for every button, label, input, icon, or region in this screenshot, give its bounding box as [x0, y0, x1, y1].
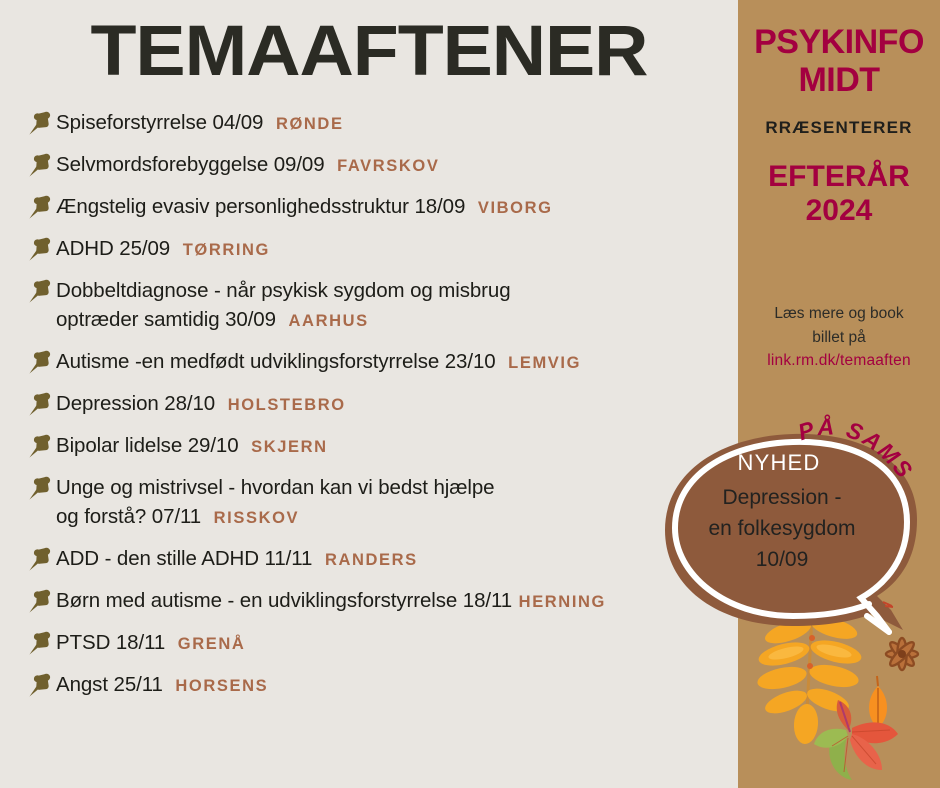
pa-samso-arc-label: PÅ SAMSØ	[795, 424, 940, 534]
event-city: TØRRING	[183, 241, 270, 259]
pushpin-icon	[26, 194, 56, 220]
event-title: Ængstelig evasiv personlighedsstruktur 1…	[56, 192, 553, 223]
event-list: Spiseforstyrrelse 04/09 RØNDESelvmordsfo…	[26, 108, 742, 712]
event-row[interactable]: Ængstelig evasiv personlighedsstruktur 1…	[26, 192, 742, 223]
event-text: Autisme -en medfødt udviklingsforstyrrel…	[56, 347, 581, 378]
event-text: ADHD 25/09 TØRRING	[56, 234, 270, 265]
event-text: Børn med autisme - en udviklingsforstyrr…	[56, 586, 606, 617]
event-title: Angst 25/11 HORSENS	[56, 670, 268, 701]
pushpin-icon-wrap	[26, 546, 56, 572]
event-city: HOLSTEBRO	[228, 396, 346, 414]
event-text: Selvmordsforebyggelse 09/09 FAVRSKOV	[56, 150, 439, 181]
pushpin-icon-wrap	[26, 349, 56, 375]
event-row[interactable]: Bipolar lidelse 29/10 SKJERN	[26, 431, 742, 462]
event-text: Spiseforstyrrelse 04/09 RØNDE	[56, 108, 344, 139]
pushpin-icon-wrap	[26, 475, 56, 501]
pushpin-icon-wrap	[26, 152, 56, 178]
season-label: EFTERÅR	[738, 160, 940, 194]
event-row[interactable]: Spiseforstyrrelse 04/09 RØNDE	[26, 108, 742, 139]
event-text: Ængstelig evasiv personlighedsstruktur 1…	[56, 192, 553, 223]
event-row[interactable]: Depression 28/10 HOLSTEBRO	[26, 389, 742, 420]
pushpin-icon	[26, 433, 56, 459]
pushpin-icon-wrap	[26, 630, 56, 656]
pushpin-icon	[26, 278, 56, 304]
pushpin-icon	[26, 391, 56, 417]
event-title: Spiseforstyrrelse 04/09 RØNDE	[56, 108, 344, 139]
event-city: HORSENS	[175, 677, 268, 695]
event-city: HERNING	[519, 593, 606, 611]
pushpin-icon	[26, 110, 56, 136]
event-row[interactable]: Angst 25/11 HORSENS	[26, 670, 742, 701]
pushpin-icon-wrap	[26, 110, 56, 136]
pushpin-icon	[26, 236, 56, 262]
news-speech-bubble: NYHED Depression - en folkesygdom 10/09 …	[655, 424, 940, 649]
pushpin-icon	[26, 588, 56, 614]
event-city: RANDERS	[325, 551, 418, 569]
event-city: GRENÅ	[178, 635, 246, 653]
pushpin-icon-wrap	[26, 433, 56, 459]
pushpin-icon	[26, 475, 56, 501]
pushpin-icon-wrap	[26, 391, 56, 417]
event-title: ADHD 25/09 TØRRING	[56, 234, 270, 265]
event-text: Angst 25/11 HORSENS	[56, 670, 268, 701]
brand-name-line2: MIDT	[738, 62, 940, 98]
event-title: Børn med autisme - en udviklingsforstyrr…	[56, 586, 606, 617]
pushpin-icon-wrap	[26, 236, 56, 262]
event-row[interactable]: ADHD 25/09 TØRRING	[26, 234, 742, 265]
pushpin-icon-wrap	[26, 194, 56, 220]
event-title: Selvmordsforebyggelse 09/09 FAVRSKOV	[56, 150, 439, 181]
event-city: SKJERN	[251, 438, 328, 456]
pushpin-icon-wrap	[26, 278, 56, 304]
year-label: 2024	[738, 194, 940, 228]
event-title: Autisme -en medfødt udviklingsforstyrrel…	[56, 347, 581, 378]
event-text: ADD - den stille ADHD 11/11 RANDERS	[56, 544, 418, 575]
page-title: TEMAAFTENER	[0, 14, 760, 90]
pushpin-icon-wrap	[26, 588, 56, 614]
event-city: VIBORG	[478, 199, 553, 217]
booking-info: Læs mere og book billet på	[738, 302, 940, 350]
event-text: Dobbeltdiagnose - når psykisk sygdom og …	[56, 276, 511, 336]
event-title: Depression 28/10 HOLSTEBRO	[56, 389, 346, 420]
event-row[interactable]: Autisme -en medfødt udviklingsforstyrrel…	[26, 347, 742, 378]
event-title: Unge og mistrivsel - hvordan kan vi beds…	[56, 473, 494, 502]
event-title-line2: optræder samtidig 30/09 AARHUS	[56, 305, 511, 336]
event-row[interactable]: Dobbeltdiagnose - når psykisk sygdom og …	[26, 276, 742, 336]
event-row[interactable]: Selvmordsforebyggelse 09/09 FAVRSKOV	[26, 150, 742, 181]
booking-line-2: billet på	[752, 326, 926, 350]
event-city: RISSKOV	[214, 509, 299, 527]
presents-label: RRÆSENTERER	[738, 118, 940, 138]
event-text: Unge og mistrivsel - hvordan kan vi beds…	[56, 473, 494, 533]
pushpin-icon	[26, 349, 56, 375]
event-title: Dobbeltdiagnose - når psykisk sygdom og …	[56, 276, 511, 305]
orange-leaf	[869, 676, 887, 728]
event-title: PTSD 18/11 GRENÅ	[56, 628, 245, 659]
booking-line-1: Læs mere og book	[752, 302, 926, 326]
event-title: ADD - den stille ADHD 11/11 RANDERS	[56, 544, 418, 575]
booking-link[interactable]: link.rm.dk/temaaften	[738, 352, 940, 370]
event-city: FAVRSKOV	[337, 157, 439, 175]
pushpin-icon	[26, 630, 56, 656]
pushpin-icon	[26, 152, 56, 178]
event-city: RØNDE	[276, 115, 344, 133]
brand-name-line1: PSYKINFO	[738, 24, 940, 60]
pushpin-icon	[26, 672, 56, 698]
event-row[interactable]: PTSD 18/11 GRENÅ	[26, 628, 742, 659]
event-row[interactable]: Unge og mistrivsel - hvordan kan vi beds…	[26, 473, 742, 533]
event-title: Bipolar lidelse 29/10 SKJERN	[56, 431, 328, 462]
event-text: PTSD 18/11 GRENÅ	[56, 628, 245, 659]
event-row[interactable]: ADD - den stille ADHD 11/11 RANDERS	[26, 544, 742, 575]
poster-canvas: TEMAAFTENER Spiseforstyrrelse 04/09 RØND…	[0, 0, 940, 788]
pushpin-icon	[26, 546, 56, 572]
event-row[interactable]: Børn med autisme - en udviklingsforstyrr…	[26, 586, 742, 617]
event-title-line2: og forstå? 07/11 RISSKOV	[56, 502, 494, 533]
event-text: Bipolar lidelse 29/10 SKJERN	[56, 431, 328, 462]
event-city: LEMVIG	[508, 354, 581, 372]
pushpin-icon-wrap	[26, 672, 56, 698]
event-text: Depression 28/10 HOLSTEBRO	[56, 389, 346, 420]
event-city: AARHUS	[289, 312, 369, 330]
